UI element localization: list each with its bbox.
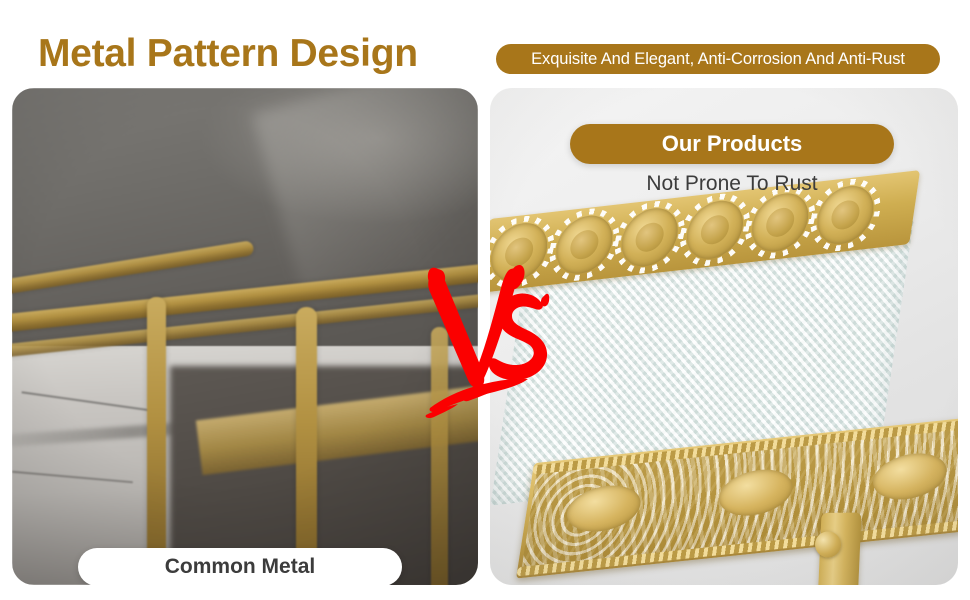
common-metal-photo — [12, 88, 478, 585]
photo-vignette — [12, 88, 478, 585]
common-metal-label-pill: Common Metal — [78, 548, 402, 585]
comparison-panel-common-metal: Common Metal Prone To Oxidation And Rust… — [12, 88, 478, 585]
header-bar: Metal Pattern Design Exquisite And Elega… — [0, 0, 970, 86]
our-products-label-pill: Our Products — [570, 124, 894, 164]
page-title: Metal Pattern Design — [38, 32, 418, 76]
header-feature-badge: Exquisite And Elegant, Anti-Corrosion An… — [496, 44, 940, 74]
our-products-caption: Not Prone To Rust — [570, 172, 894, 196]
comparison-panel-our-products: Our Products Not Prone To Rust — [490, 88, 958, 585]
